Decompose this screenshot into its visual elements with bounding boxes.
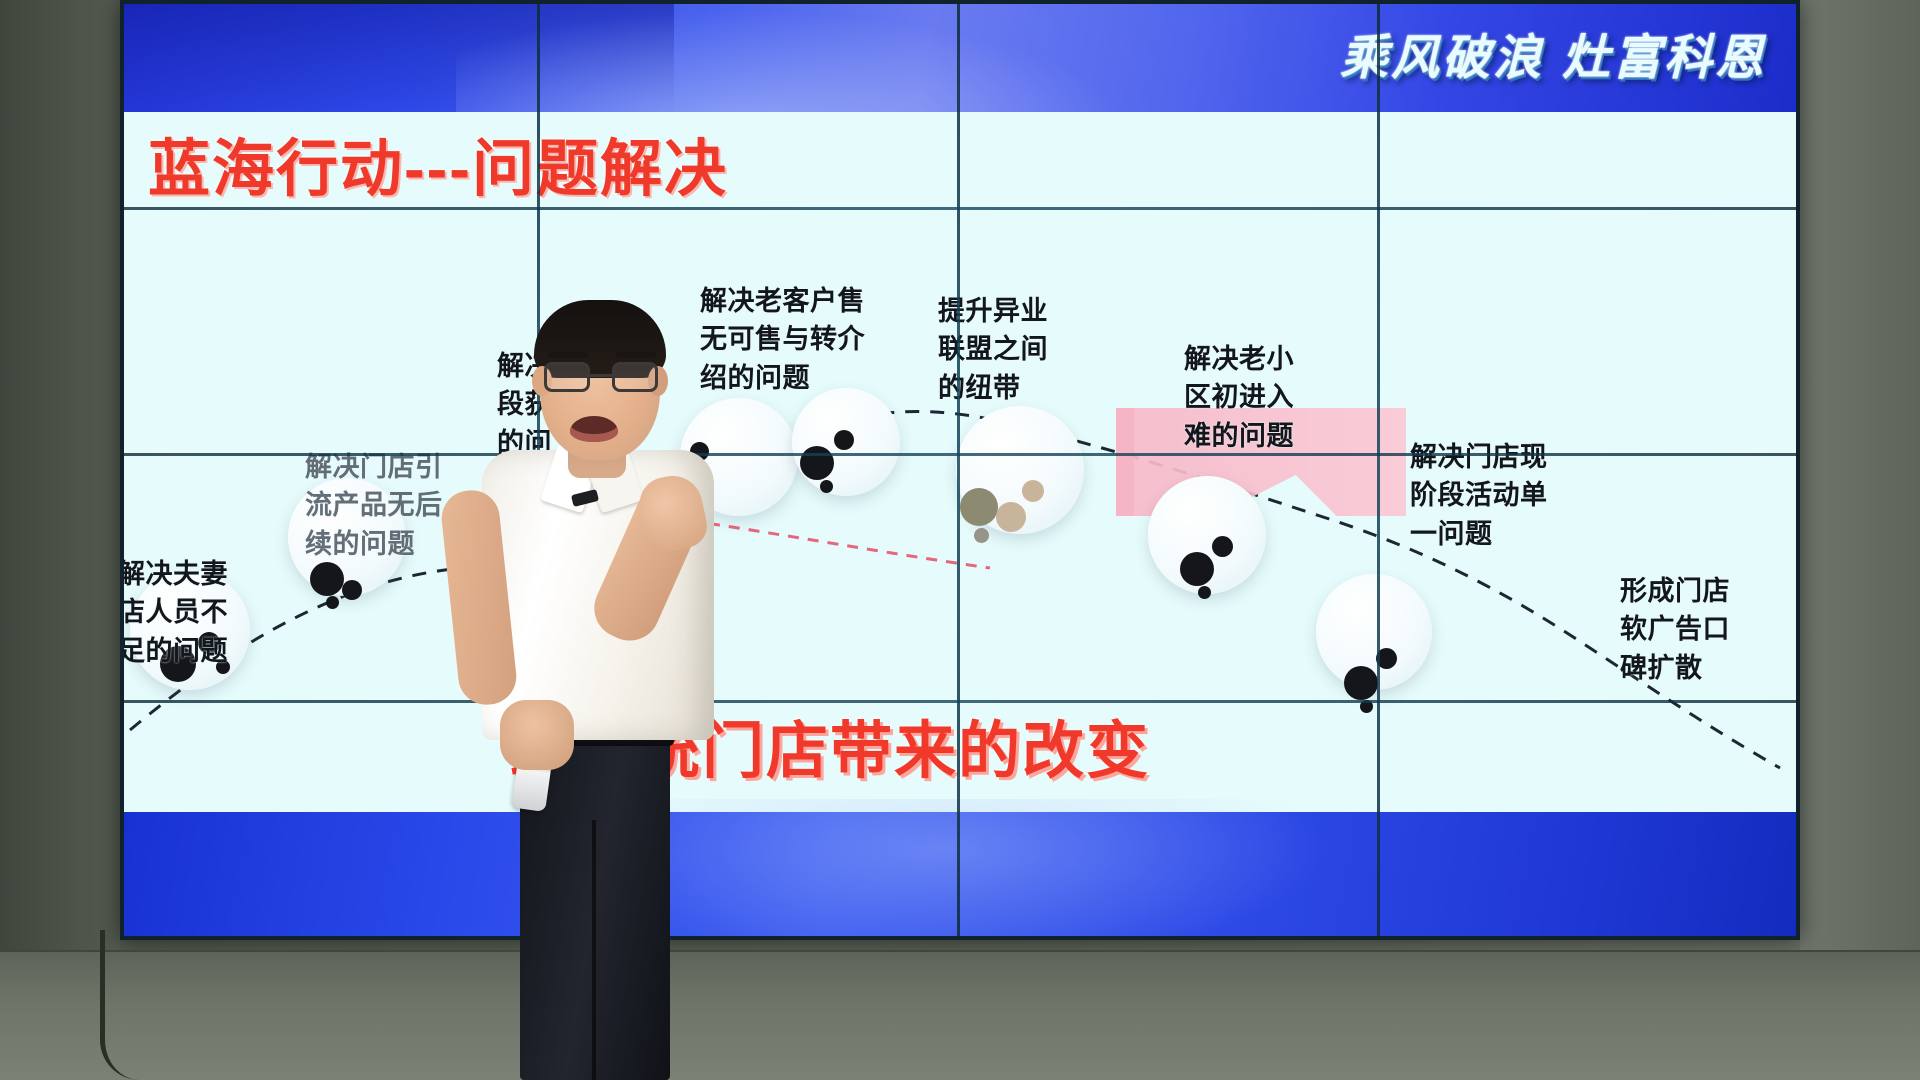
presenter-trouser-seam	[592, 820, 596, 1080]
video-wall-display[interactable]: 乘风破浪灶富科恩 蓝海行动---问题解决	[120, 0, 1800, 940]
presenter	[420, 300, 780, 1080]
glasses-lens-right	[612, 362, 658, 392]
presenter-glasses	[544, 362, 658, 392]
room-scene: 乘风破浪灶富科恩 蓝海行动---问题解决	[0, 0, 1920, 1080]
floor-seam	[0, 950, 1920, 952]
presenter-mouth	[570, 416, 618, 442]
power-cable	[100, 930, 160, 1080]
presenter-eyebrow-left	[548, 352, 588, 358]
glasses-lens-left	[544, 362, 590, 392]
left-wall	[0, 0, 120, 1080]
presenter-hand-left	[500, 700, 574, 770]
video-wall-bezel	[120, 0, 1800, 940]
presenter-eyebrow-right	[616, 352, 656, 358]
floor	[0, 950, 1920, 1080]
glasses-bridge	[590, 374, 612, 377]
right-wall	[1800, 0, 1920, 1080]
